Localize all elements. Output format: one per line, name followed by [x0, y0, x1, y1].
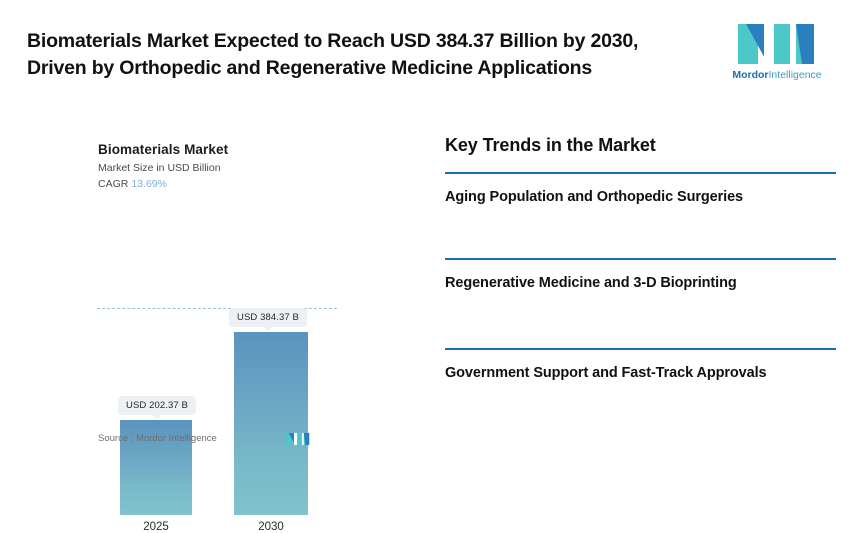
brand-name-secondary: Intelligence — [769, 69, 822, 81]
x-axis-label-2025: 2025 — [120, 521, 192, 533]
page-title: Biomaterials Market Expected to Reach US… — [27, 28, 687, 82]
brand-wordmark: MordorIntelligence — [722, 69, 832, 81]
trend-item-3: Government Support and Fast-Track Approv… — [445, 348, 836, 384]
trend-label-2: Regenerative Medicine and 3-D Bioprintin… — [445, 273, 785, 294]
headline-line-2: Driven by Orthopedic and Regenerative Me… — [27, 55, 687, 82]
headline-line-1: Biomaterials Market Expected to Reach US… — [27, 30, 638, 52]
key-trends-panel: Key Trends in the Market Aging Populatio… — [445, 110, 840, 482]
trend-item-2: Regenerative Medicine and 3-D Bioprintin… — [445, 258, 836, 294]
mordor-mark-icon — [285, 432, 311, 446]
trend-label-1: Aging Population and Orthopedic Surgerie… — [445, 187, 785, 208]
brand-name-primary: Mordor — [732, 69, 768, 81]
value-label-2030: USD 384.37 B — [229, 308, 307, 327]
value-label-2025: USD 202.37 B — [118, 396, 196, 415]
trend-divider — [445, 172, 836, 174]
trend-item-1: Aging Population and Orthopedic Surgerie… — [445, 172, 836, 208]
mordor-intelligence-logo-icon — [734, 22, 820, 66]
bar-2030 — [234, 332, 308, 515]
chart-panel: Biomaterials Market Market Size in USD B… — [0, 110, 420, 482]
page-header: Biomaterials Market Expected to Reach US… — [0, 0, 860, 110]
trend-label-3: Government Support and Fast-Track Approv… — [445, 363, 785, 384]
trend-divider — [445, 348, 836, 350]
chart-source: Source : Mordor Intelligence — [98, 433, 217, 444]
trend-divider — [445, 258, 836, 260]
x-axis-label-2030: 2030 — [234, 521, 308, 533]
bar-chart-plot: USD 202.37 B USD 384.37 B 2025 2030 — [0, 110, 420, 482]
key-trends-title: Key Trends in the Market — [445, 135, 656, 156]
brand-logo: MordorIntelligence — [722, 22, 832, 84]
